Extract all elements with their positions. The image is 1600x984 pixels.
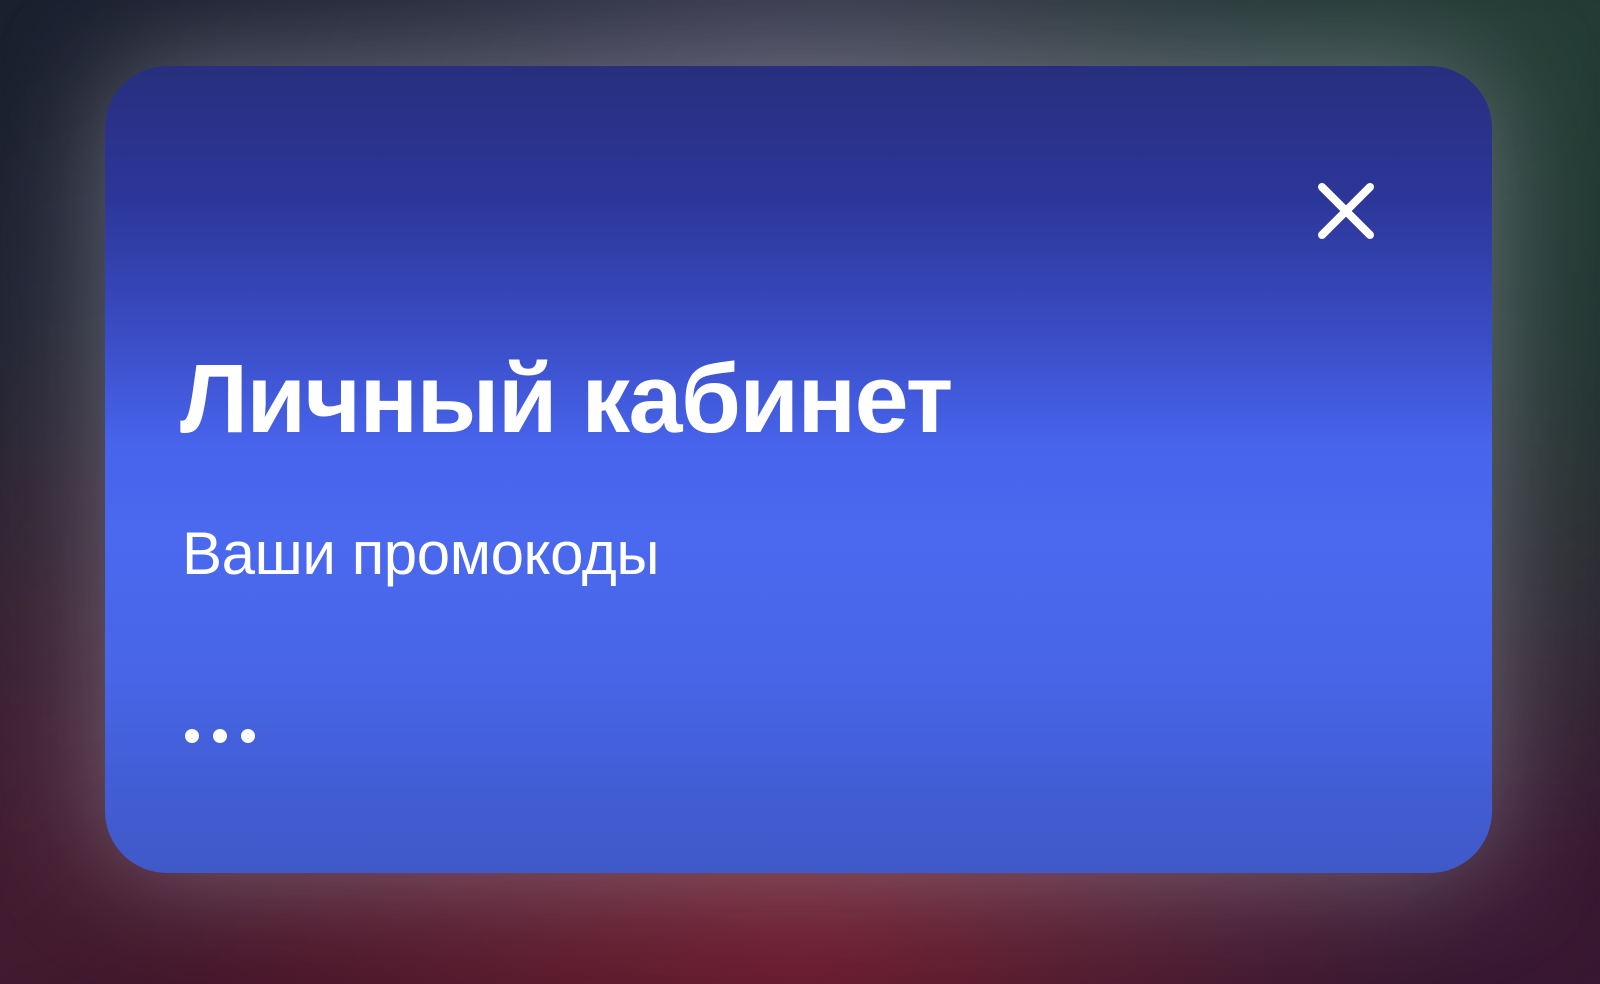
ellipsis-dot-3 [241, 729, 255, 743]
ellipsis-dot-2 [213, 729, 227, 743]
card-content: Личный кабинет Ваши промокоды ... [180, 66, 1492, 873]
ellipsis-indicator: ... [185, 713, 255, 759]
card-subtitle: Ваши промокоды [182, 521, 659, 587]
ellipsis-dot-1 [185, 729, 199, 743]
page-title: Личный кабинет [180, 348, 952, 450]
personal-account-card: Личный кабинет Ваши промокоды ... [105, 66, 1492, 873]
